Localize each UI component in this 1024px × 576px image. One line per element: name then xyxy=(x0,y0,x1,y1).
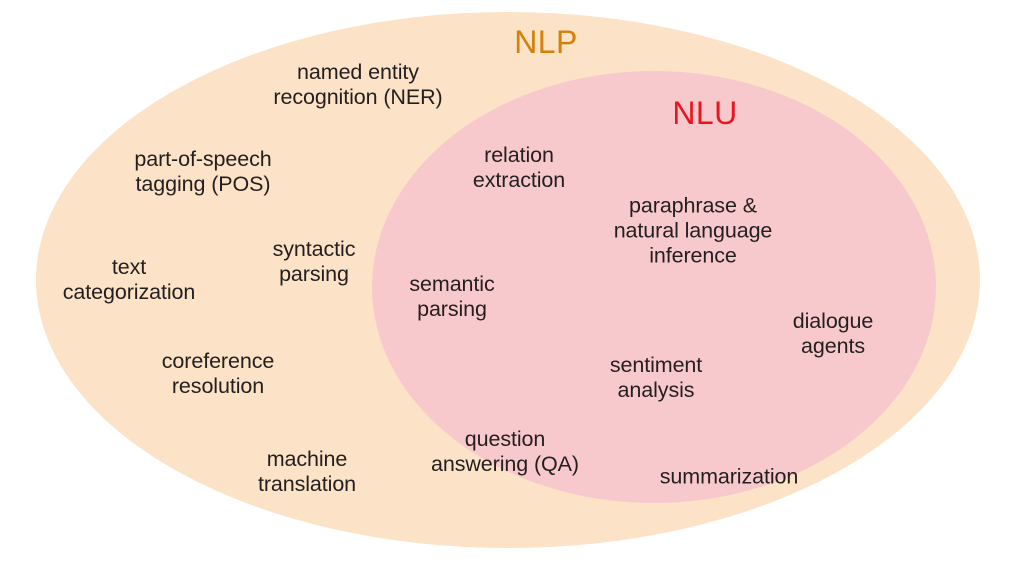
label-layer: NLP NLU named entity recognition (NER) p… xyxy=(0,0,1024,576)
nlu-set-title: NLU xyxy=(672,97,737,129)
term-named-entity-recognition: named entity recognition (NER) xyxy=(273,60,442,110)
term-part-of-speech-tagging: part-of-speech tagging (POS) xyxy=(134,147,271,197)
term-question-answering: question answering (QA) xyxy=(431,427,579,477)
term-sentiment-analysis: sentiment analysis xyxy=(610,353,702,403)
nlp-set-title: NLP xyxy=(514,26,577,58)
term-paraphrase-natural-language-inference: paraphrase & natural language inference xyxy=(614,193,773,268)
term-syntactic-parsing: syntactic parsing xyxy=(273,237,356,287)
term-summarization: summarization xyxy=(660,464,799,489)
term-dialogue-agents: dialogue agents xyxy=(793,309,874,359)
venn-diagram: NLP NLU named entity recognition (NER) p… xyxy=(0,0,1024,576)
term-coreference-resolution: coreference resolution xyxy=(162,349,274,399)
term-relation-extraction: relation extraction xyxy=(473,143,565,193)
term-text-categorization: text categorization xyxy=(63,255,195,305)
term-semantic-parsing: semantic parsing xyxy=(409,272,494,322)
term-machine-translation: machine translation xyxy=(258,447,356,497)
